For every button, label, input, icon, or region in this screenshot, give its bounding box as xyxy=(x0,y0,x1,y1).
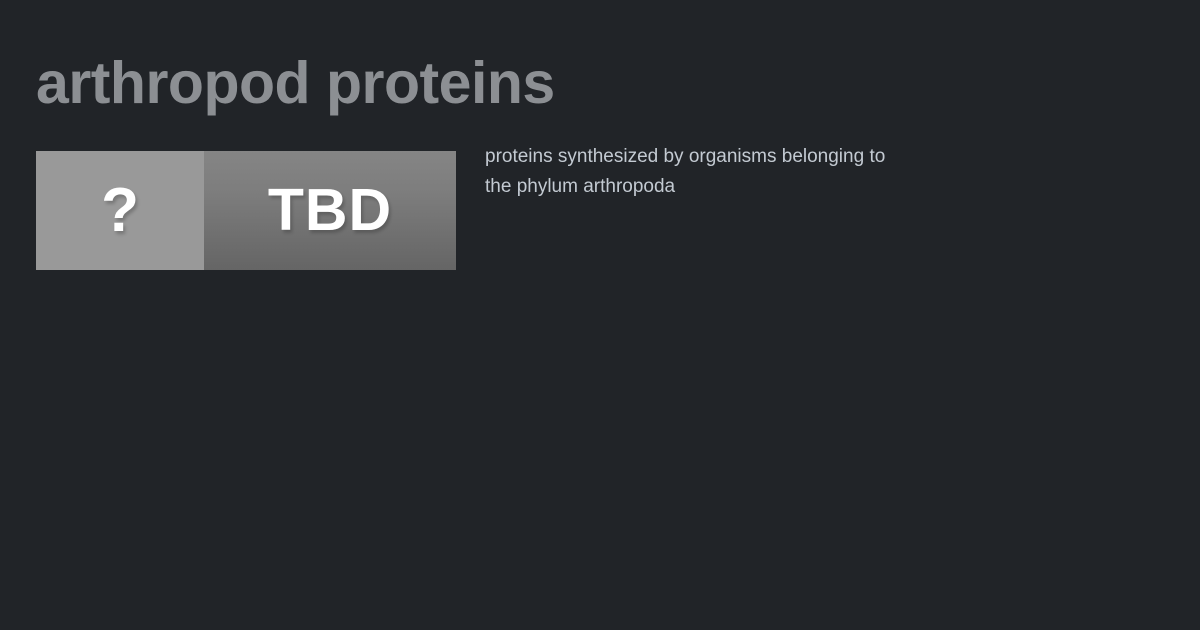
placeholder-panel-tbd: TBD xyxy=(204,151,456,270)
preview-card: arthropod proteins ? TBD proteins synthe… xyxy=(0,0,1200,630)
placeholder-image: ? TBD xyxy=(36,151,456,270)
description-text: proteins synthesized by organisms belong… xyxy=(485,142,905,202)
question-mark-icon: ? xyxy=(101,180,139,242)
tbd-label: TBD xyxy=(268,181,392,240)
page-title: arthropod proteins xyxy=(36,48,555,118)
placeholder-panel-question: ? xyxy=(36,151,204,270)
